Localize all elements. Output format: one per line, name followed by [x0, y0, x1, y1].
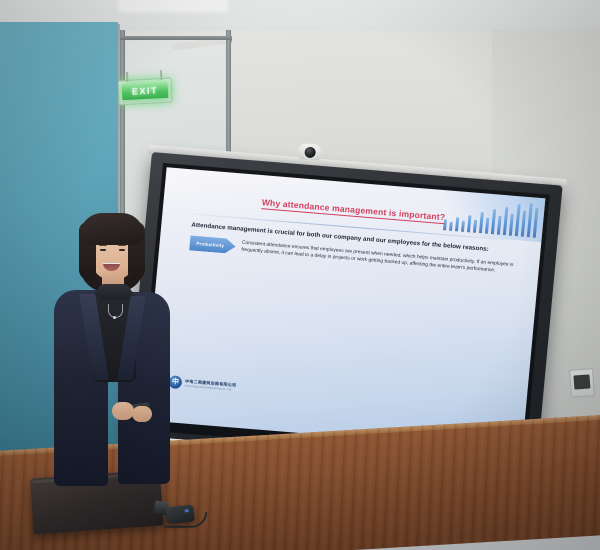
exit-sign-glow: EXIT — [122, 82, 169, 100]
exit-sign-label: EXIT — [132, 86, 158, 96]
exit-sign: EXIT — [117, 78, 172, 106]
necklace-pendant — [113, 316, 116, 319]
webcam-icon — [298, 143, 321, 161]
wireless-presenter-dongle[interactable] — [165, 505, 195, 525]
conference-room-photo: EXIT KHTM-CJMU | 13:51 — [0, 0, 600, 550]
display-screen[interactable]: Why attendance management is important? … — [138, 163, 549, 462]
hair-front — [80, 213, 144, 245]
outlet-socket-icon — [573, 374, 590, 389]
dongle-led-icon — [185, 509, 189, 512]
wall-outlet[interactable] — [569, 368, 595, 398]
hand-right — [132, 406, 152, 422]
reason-badge-label: Productivity — [196, 241, 229, 249]
ceiling-light — [118, 0, 228, 12]
slide-company-logo: 中 中电二局建筑安装有限公司 China Electronics Enginee… — [168, 375, 237, 393]
reason-badge-chevron: Productivity — [189, 235, 236, 254]
presentation-slide[interactable]: Why attendance management is important? … — [143, 167, 545, 451]
hand-left — [112, 402, 134, 420]
presenter — [52, 214, 174, 494]
turtleneck-collar — [97, 284, 131, 300]
glass-frame-top — [120, 36, 232, 40]
